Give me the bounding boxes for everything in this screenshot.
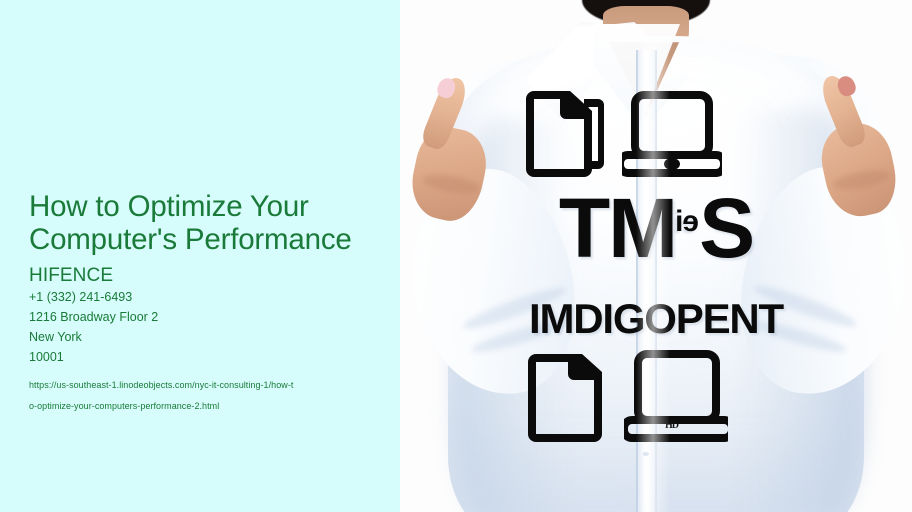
contact-address-line1: 1216 Broadway Floor 2 xyxy=(29,307,395,327)
print-headline-prefix: TM xyxy=(559,181,676,275)
source-url-line-2[interactable]: o-optimize-your-computers-performance-2.… xyxy=(29,396,395,417)
contact-phone[interactable]: +1 (332) 241-6493 xyxy=(29,287,395,307)
photo-stage: TMeiS IMDIGOPENT xyxy=(400,0,912,512)
print-subline: IMDIGOPENT xyxy=(400,297,912,341)
page-title: How to Optimize Your Computer's Performa… xyxy=(29,190,395,256)
print-icon-row-bottom xyxy=(522,348,728,446)
contact-zip: 10001 xyxy=(29,347,395,367)
contact-city: New York xyxy=(29,327,395,347)
folder-icon xyxy=(522,348,618,446)
shirt-print: TMeiS IMDIGOPENT xyxy=(400,0,912,512)
print-headline: TMeiS xyxy=(400,186,912,270)
left-info-panel: How to Optimize Your Computer's Performa… xyxy=(0,0,400,512)
print-headline-superscript: ei xyxy=(676,207,699,237)
text-block: How to Optimize Your Computer's Performa… xyxy=(29,190,395,417)
photo-bottom-fade xyxy=(400,476,912,512)
folder-icon xyxy=(520,85,612,181)
laptop-icon xyxy=(622,89,722,181)
source-url[interactable]: https://us-southeast-1.linodeobjects.com… xyxy=(29,375,395,417)
hero-photo: TMeiS IMDIGOPENT xyxy=(400,0,912,512)
page-root: How to Optimize Your Computer's Performa… xyxy=(0,0,912,512)
print-headline-suffix: S xyxy=(699,181,753,275)
source-url-line-1[interactable]: https://us-southeast-1.linodeobjects.com… xyxy=(29,375,395,396)
brand-name: HIFENCE xyxy=(29,264,395,287)
print-icon-row-top xyxy=(520,85,722,181)
laptop-icon xyxy=(624,348,728,446)
laptop-brand-logo: HD xyxy=(665,420,678,431)
